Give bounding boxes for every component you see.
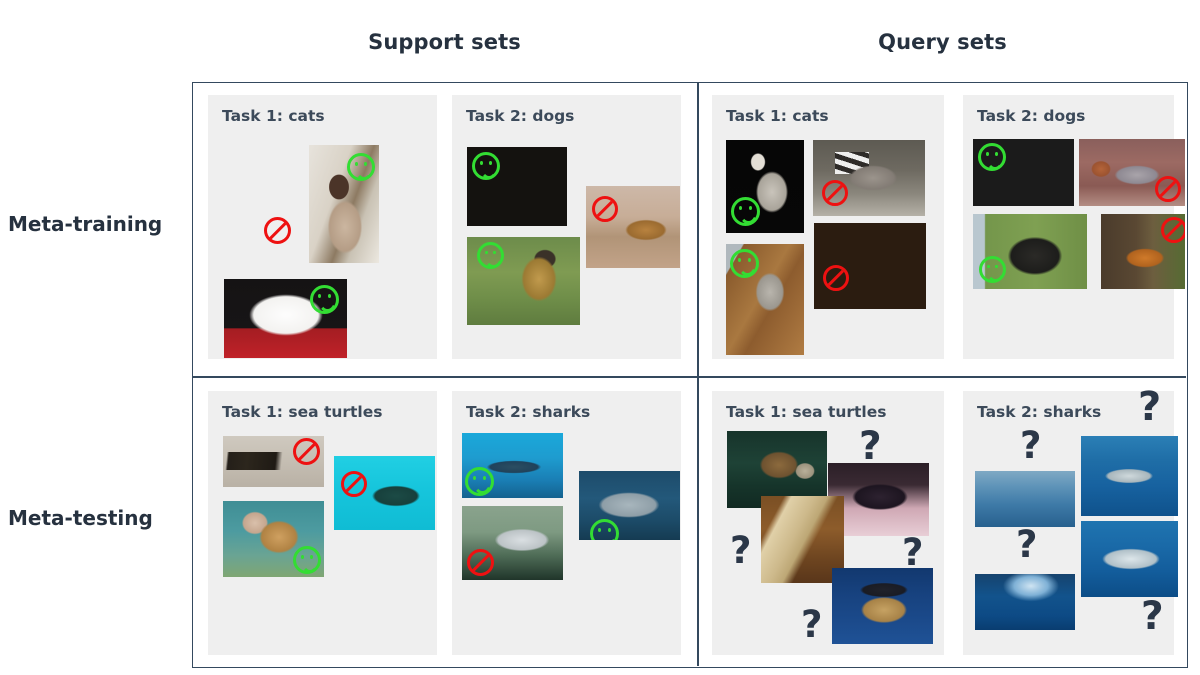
lemur-group-photo: [813, 140, 925, 216]
lizard-photo: [223, 436, 324, 487]
panel-support-task2-dogs: Task 2: dogs: [452, 95, 681, 359]
german-shepherd-photo: [467, 237, 580, 325]
dolphin-photo: [462, 506, 563, 580]
great-white-shark-side-photo: [1081, 521, 1178, 597]
positive-marker-icon: [477, 242, 504, 269]
cell-meta-training-support: Task 1: cats Task 2: dogs: [193, 83, 696, 376]
coyote-photo: [586, 186, 680, 268]
negative-marker-icon: [1155, 176, 1181, 202]
unknown-marker-icon: ?: [730, 532, 751, 569]
tiger-shark-photo: [579, 471, 680, 540]
ring-tailed-lemur-photo: [814, 223, 926, 309]
gray-fox-photo: [1079, 139, 1185, 206]
panel-title: Task 1: cats: [726, 107, 829, 125]
panel-support-task1-sea-turtles: Task 1: sea turtles: [208, 391, 437, 655]
panel-title: Task 2: dogs: [977, 107, 1085, 125]
panel-query-task2-dogs: Task 2: dogs: [963, 95, 1174, 359]
unknown-marker-icon: ?: [801, 606, 822, 643]
cell-meta-testing-support: Task 1: sea turtles Task 2: sharks: [193, 378, 696, 668]
negative-marker-icon: [592, 196, 618, 222]
negative-marker-icon: [823, 265, 849, 291]
tabby-cat-stairs-photo: [726, 244, 804, 355]
panel-query-task1-cats: Task 1: cats: [712, 95, 944, 359]
sea-cucumber-photo: [334, 456, 435, 530]
unknown-marker-icon: ?: [1016, 526, 1037, 563]
negative-marker-icon: [264, 217, 291, 244]
positive-marker-icon: [465, 467, 494, 496]
hammerhead-shark-photo: [462, 433, 563, 498]
positive-marker-icon: [347, 153, 375, 181]
deep-ocean-rays-photo: [975, 574, 1075, 630]
black-retriever-photo: [973, 214, 1087, 289]
negative-marker-icon: [467, 549, 494, 576]
positive-marker-icon: [731, 197, 760, 226]
red-fox-photo: [1101, 214, 1185, 289]
panel-title: Task 1: cats: [222, 107, 325, 125]
panel-query-task1-sea-turtles: Task 1: sea turtles ? ? ? ?: [712, 391, 944, 655]
panel-support-task2-sharks: Task 2: sharks: [452, 391, 681, 655]
egyptian-mau-cat-photo: [726, 140, 804, 233]
great-white-shark-photo: [1081, 436, 1178, 516]
dalmatian-puppy-photo: [973, 139, 1074, 206]
positive-marker-icon: [590, 519, 619, 540]
unknown-marker-icon: ?: [902, 534, 923, 571]
positive-marker-icon: [472, 152, 500, 180]
loggerhead-turtle-photo: [223, 501, 324, 577]
positive-marker-icon: [293, 546, 321, 574]
positive-marker-icon: [979, 256, 1006, 283]
panel-title: Task 2: sharks: [466, 403, 590, 421]
red-panda-photo: [224, 149, 301, 262]
positive-marker-icon: [730, 249, 759, 278]
row-label-meta-testing: Meta-testing: [8, 506, 153, 530]
panel-title: Task 2: dogs: [466, 107, 574, 125]
unknown-marker-icon: ?: [1141, 597, 1164, 636]
panel-title: Task 1: sea turtles: [726, 403, 887, 421]
dalmatian-photo: [467, 147, 567, 226]
positive-marker-icon: [978, 143, 1006, 171]
panel-query-task2-sharks: Task 2: sharks ? ? ? ?: [963, 391, 1174, 655]
unknown-marker-icon: ?: [1020, 427, 1041, 464]
cell-meta-training-query: Task 1: cats Task 2: dogs: [698, 83, 1188, 376]
negative-marker-icon: [293, 438, 320, 465]
negative-marker-icon: [822, 180, 848, 206]
positive-marker-icon: [310, 285, 339, 314]
unknown-marker-icon: ?: [859, 427, 882, 466]
panel-title: Task 2: sharks: [977, 403, 1101, 421]
panel-support-task1-cats: Task 1: cats: [208, 95, 437, 359]
white-persian-cat-photo: [224, 279, 347, 358]
unknown-marker-icon: ?: [1138, 387, 1161, 427]
siamese-cat-photo: [309, 145, 379, 263]
negative-marker-icon: [1161, 217, 1185, 243]
negative-marker-icon: [341, 471, 367, 497]
column-header-query-sets: Query sets: [697, 30, 1188, 54]
column-header-support-sets: Support sets: [193, 30, 696, 54]
meta-learning-figure: Support sets Query sets Meta-training Me…: [0, 0, 1200, 675]
row-label-meta-training: Meta-training: [8, 212, 162, 236]
cell-meta-testing-query: Task 1: sea turtles ? ? ? ? Task 2: shar…: [698, 378, 1188, 668]
surfacing-turtle-photo: [832, 568, 933, 644]
ocean-surface-photo: [975, 471, 1075, 527]
panel-title: Task 1: sea turtles: [222, 403, 383, 421]
